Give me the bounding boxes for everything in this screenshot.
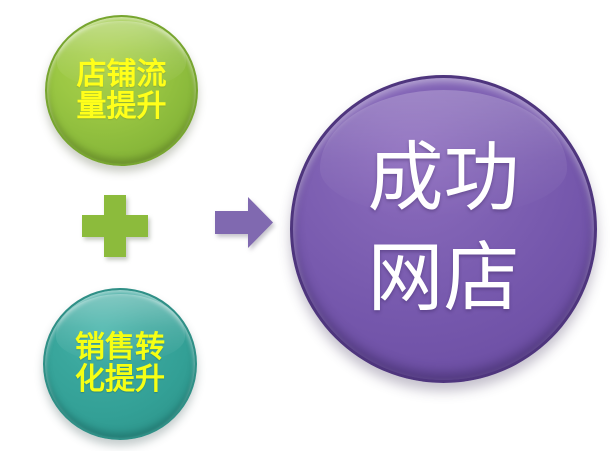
badge-conversion-increase[interactable]: 销售转 化提升	[43, 288, 197, 440]
plus-icon	[82, 195, 148, 257]
badge-successful-online-store-label: 成功 网店	[368, 129, 520, 330]
badge-traffic-increase[interactable]: 店铺流 量提升	[45, 15, 198, 166]
badge-successful-online-store[interactable]: 成功 网店	[290, 75, 597, 383]
arrow-right-icon	[215, 197, 273, 248]
badge-traffic-increase-label: 店铺流 量提升	[77, 59, 167, 123]
diagram-canvas: 店铺流 量提升 销售转 化提升 成功 网店	[0, 0, 615, 451]
badge-conversion-increase-label: 销售转 化提升	[75, 332, 165, 396]
